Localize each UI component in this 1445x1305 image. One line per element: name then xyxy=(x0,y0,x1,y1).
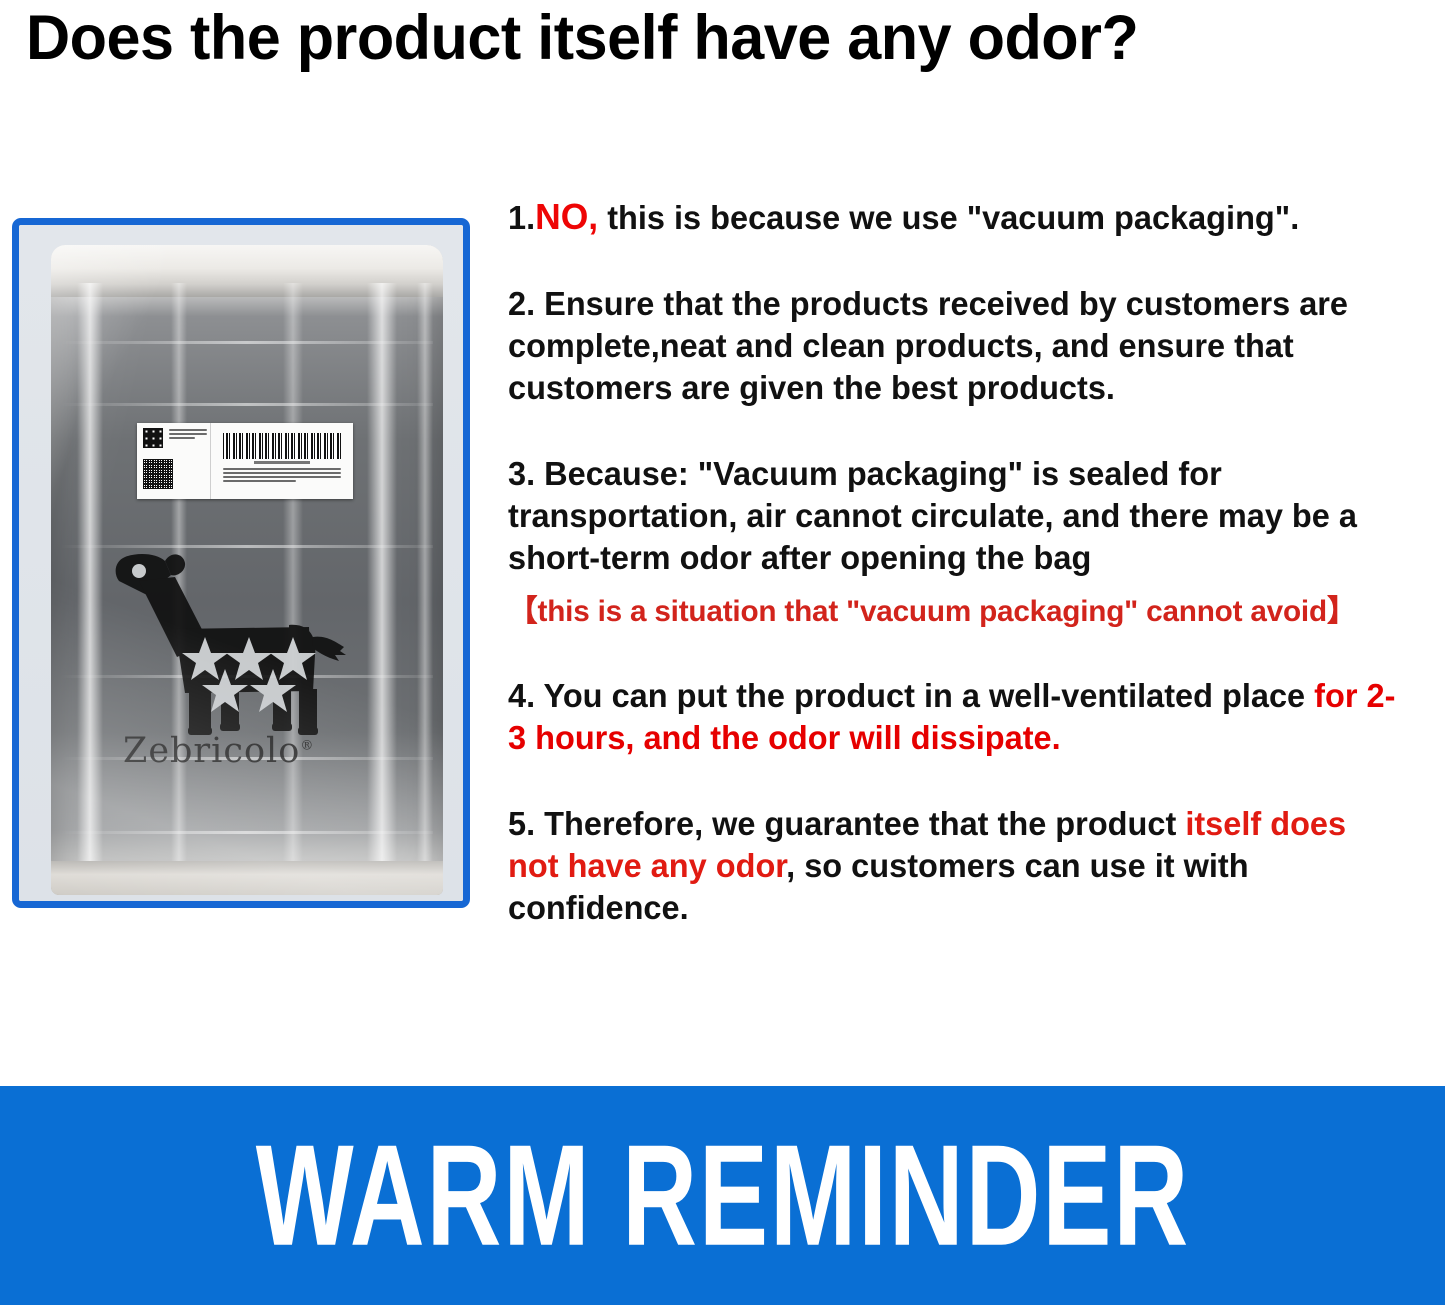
plastic-fold xyxy=(77,283,103,869)
answer-item-2-number: 2. xyxy=(508,285,535,322)
answer-item-2-text: Ensure that the products received by cus… xyxy=(508,285,1348,406)
vacuum-sealed-bag: Zebricolo® xyxy=(51,245,443,895)
brand-logo: Zebricolo® xyxy=(113,551,403,771)
trademark-symbol: ® xyxy=(300,738,314,753)
page-title: Does the product itself have any odor? xyxy=(26,2,1384,74)
qr-code-icon xyxy=(143,459,173,489)
answer-item-2: 2. Ensure that the products received by … xyxy=(508,283,1400,409)
answer-item-1: 1.NO, this is because we use "vacuum pac… xyxy=(508,196,1400,239)
zebra-silhouette-icon xyxy=(113,551,349,737)
answer-item-1-text: this is because we use "vacuum packaging… xyxy=(598,199,1299,236)
shipping-label-left xyxy=(137,423,211,499)
warm-reminder-banner: WARM REMINDER xyxy=(0,1086,1445,1305)
shipping-label xyxy=(137,423,353,499)
shipping-label-right xyxy=(211,423,353,499)
shipping-label-address-text xyxy=(169,429,207,441)
plastic-crease xyxy=(61,403,433,406)
plastic-crease xyxy=(61,831,433,834)
answer-item-5-text-before: Therefore, we guarantee that the product xyxy=(535,805,1185,842)
answer-list: 1.NO, this is because we use "vacuum pac… xyxy=(508,196,1414,929)
answer-item-4-number: 4. xyxy=(508,677,535,714)
answer-item-4: 4. You can put the product in a well-ven… xyxy=(508,675,1400,759)
plastic-fold xyxy=(417,283,433,869)
product-photo-frame: Zebricolo® xyxy=(12,218,470,908)
answer-item-4-text: You can put the product in a well-ventil… xyxy=(535,677,1314,714)
barcode-icon xyxy=(223,433,341,459)
shipping-label-body-text xyxy=(223,468,341,482)
answer-item-3-number: 3. xyxy=(508,455,535,492)
answer-item-3: 3. Because: "Vacuum packaging" is sealed… xyxy=(508,453,1400,579)
answer-item-3-note: 【this is a situation that "vacuum packag… xyxy=(508,593,1405,631)
product-photo: Zebricolo® xyxy=(19,225,463,901)
brand-wordmark-text: Zebricolo xyxy=(123,731,300,771)
plastic-crease xyxy=(61,545,433,548)
answer-item-5-number: 5. xyxy=(508,805,535,842)
answer-item-5: 5. Therefore, we guarantee that the prod… xyxy=(508,803,1400,929)
plastic-crease xyxy=(61,341,433,344)
bag-bottom-seal xyxy=(51,861,443,895)
barcode-number xyxy=(254,461,310,464)
answer-item-1-emphasis: NO, xyxy=(535,196,598,237)
answer-item-3-text: Because: "Vacuum packaging" is sealed fo… xyxy=(508,455,1357,576)
datamatrix-code-icon xyxy=(143,428,163,448)
answer-item-1-number: 1. xyxy=(508,199,535,236)
warm-reminder-label: WARM REMINDER xyxy=(255,1124,1189,1268)
brand-wordmark: Zebricolo® xyxy=(123,731,403,771)
